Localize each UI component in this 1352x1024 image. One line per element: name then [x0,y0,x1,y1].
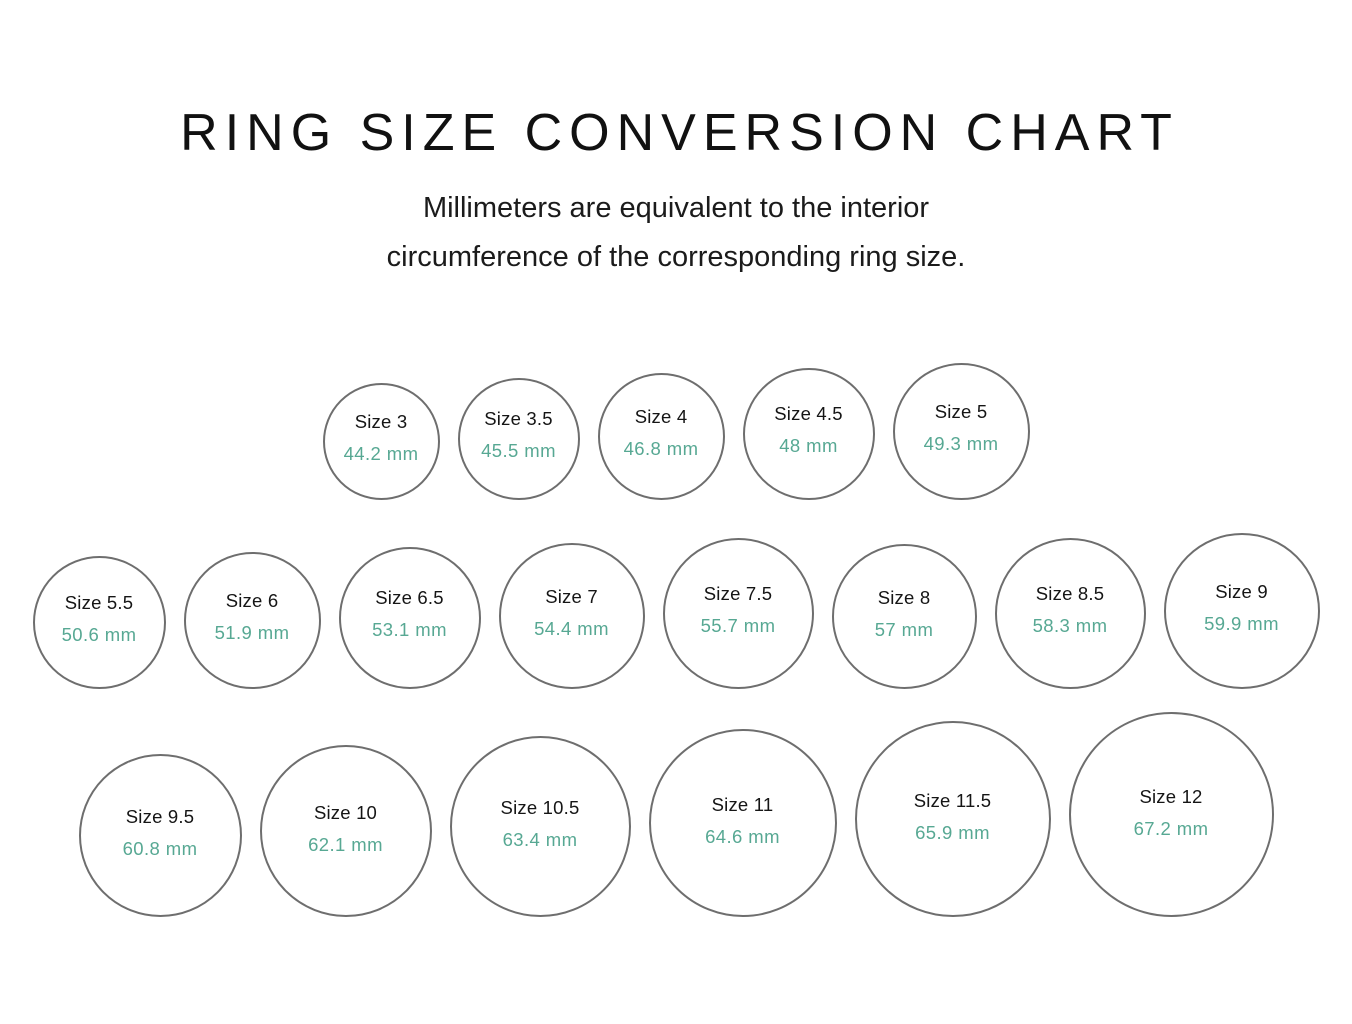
size-circle[interactable]: Size 9.560.8 mm [79,754,242,917]
size-circle[interactable]: Size 857 mm [832,544,977,689]
size-circle[interactable]: Size 754.4 mm [499,543,645,689]
size-label: Size 5.5 [35,594,164,613]
size-circle[interactable]: Size 1062.1 mm [260,745,432,917]
size-row-3: Size 9.560.8 mmSize 1062.1 mmSize 10.563… [0,712,1352,917]
size-label: Size 5 [895,403,1028,422]
size-circle-text: Size 344.2 mm [325,413,438,463]
size-circle[interactable]: Size 446.8 mm [598,373,725,500]
size-circle-text: Size 857 mm [834,589,975,639]
mm-value: 55.7 mm [665,617,812,636]
mm-value: 53.1 mm [341,621,479,640]
size-circle[interactable]: Size 1164.6 mm [649,729,837,917]
mm-value: 60.8 mm [81,840,240,859]
size-label: Size 8.5 [997,585,1144,604]
size-label: Size 4.5 [745,405,873,424]
size-circle-text: Size 549.3 mm [895,403,1028,453]
size-circle-text: Size 959.9 mm [1166,583,1318,633]
size-circle[interactable]: Size 344.2 mm [323,383,440,500]
size-circle-text: Size 9.560.8 mm [81,808,240,858]
size-label: Size 11.5 [857,792,1049,811]
size-circle-text: Size 1062.1 mm [262,804,430,854]
size-label: Size 6 [186,592,319,611]
size-circle[interactable]: Size 3.545.5 mm [458,378,580,500]
size-circle[interactable]: Size 1267.2 mm [1069,712,1274,917]
size-circle-text: Size 3.545.5 mm [460,410,578,460]
size-label: Size 7.5 [665,585,812,604]
size-circle[interactable]: Size 7.555.7 mm [663,538,814,689]
size-circle-text: Size 446.8 mm [600,408,723,458]
size-circle[interactable]: Size 6.553.1 mm [339,547,481,689]
size-circle-text: Size 7.555.7 mm [665,585,812,635]
mm-value: 46.8 mm [600,440,723,459]
size-circle-text: Size 651.9 mm [186,592,319,642]
size-circle-text: Size 1164.6 mm [651,796,835,846]
mm-value: 49.3 mm [895,435,1028,454]
chart-header: RING SIZE CONVERSION CHART Millimeters a… [0,0,1352,282]
chart-subtitle-line-1: Millimeters are equivalent to the interi… [0,184,1352,233]
size-circle-text: Size 10.563.4 mm [452,799,629,849]
mm-value: 59.9 mm [1166,615,1318,634]
size-label: Size 6.5 [341,589,479,608]
ring-size-conversion-chart: RING SIZE CONVERSION CHART Millimeters a… [0,0,1352,1024]
mm-value: 45.5 mm [460,442,578,461]
mm-value: 62.1 mm [262,836,430,855]
size-circle[interactable]: Size 10.563.4 mm [450,736,631,917]
size-label: Size 12 [1071,788,1272,807]
size-row-1: Size 344.2 mmSize 3.545.5 mmSize 446.8 m… [0,363,1352,500]
mm-value: 51.9 mm [186,624,319,643]
mm-value: 64.6 mm [651,828,835,847]
mm-value: 44.2 mm [325,445,438,464]
size-label: Size 3.5 [460,410,578,429]
size-label: Size 7 [501,588,643,607]
size-circle[interactable]: Size 4.548 mm [743,368,875,500]
size-label: Size 9 [1166,583,1318,602]
size-circle[interactable]: Size 11.565.9 mm [855,721,1051,917]
size-circle-text: Size 4.548 mm [745,405,873,455]
mm-value: 63.4 mm [452,831,629,850]
size-circle[interactable]: Size 549.3 mm [893,363,1030,500]
size-label: Size 9.5 [81,808,240,827]
size-circle-text: Size 1267.2 mm [1071,788,1272,838]
mm-value: 50.6 mm [35,626,164,645]
size-label: Size 8 [834,589,975,608]
size-circle-text: Size 11.565.9 mm [857,792,1049,842]
size-circle-text: Size 6.553.1 mm [341,589,479,639]
mm-value: 54.4 mm [501,620,643,639]
chart-subtitle-line-2: circumference of the corresponding ring … [0,233,1352,282]
page-title: RING SIZE CONVERSION CHART [0,104,1352,162]
size-circle[interactable]: Size 651.9 mm [184,552,321,689]
size-label: Size 3 [325,413,438,432]
size-circle[interactable]: Size 959.9 mm [1164,533,1320,689]
size-label: Size 4 [600,408,723,427]
size-circle-text: Size 754.4 mm [501,588,643,638]
size-circle[interactable]: Size 5.550.6 mm [33,556,166,689]
size-label: Size 11 [651,796,835,815]
mm-value: 58.3 mm [997,617,1144,636]
size-circle-text: Size 8.558.3 mm [997,585,1144,635]
size-circle[interactable]: Size 8.558.3 mm [995,538,1146,689]
size-row-2: Size 5.550.6 mmSize 651.9 mmSize 6.553.1… [0,533,1352,689]
size-label: Size 10 [262,804,430,823]
chart-subtitle: Millimeters are equivalent to the interi… [0,184,1352,282]
size-circle-text: Size 5.550.6 mm [35,594,164,644]
size-label: Size 10.5 [452,799,629,818]
mm-value: 65.9 mm [857,824,1049,843]
mm-value: 57 mm [834,621,975,640]
mm-value: 67.2 mm [1071,820,1272,839]
mm-value: 48 mm [745,437,873,456]
